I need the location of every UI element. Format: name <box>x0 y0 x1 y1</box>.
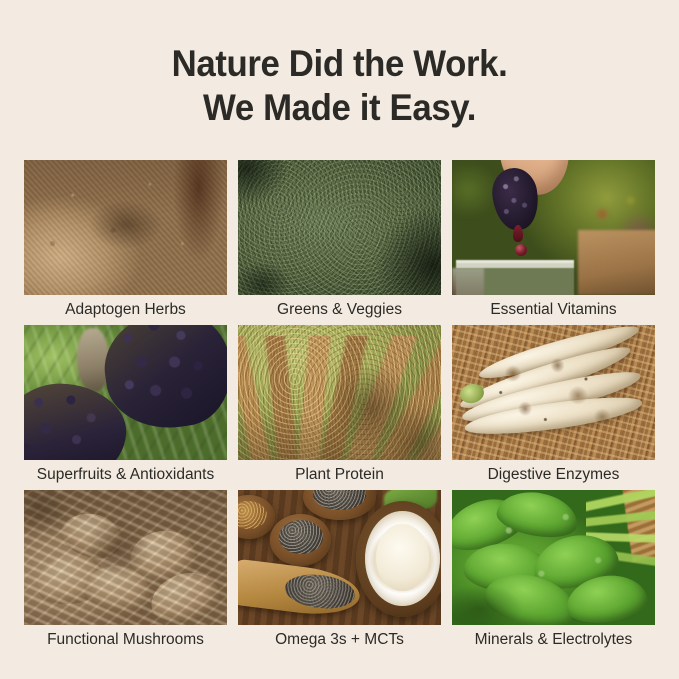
functional-mushrooms-photo <box>24 490 227 625</box>
grid-item: Plant Protein <box>238 325 441 490</box>
photo-layer-highlights <box>452 490 655 625</box>
grid-item: Essential Vitamins <box>452 160 655 325</box>
page-title-line-2: We Made it Easy. <box>20 86 658 130</box>
grid-item-caption: Functional Mushrooms <box>24 625 227 655</box>
page-title: Nature Did the Work. We Made it Easy. <box>20 0 658 130</box>
superfruits-antioxidants-photo <box>24 325 227 460</box>
photo-layer-shadow <box>24 160 227 295</box>
adaptogen-herbs-photo <box>24 160 227 295</box>
greens-veggies-photo <box>238 160 441 295</box>
photo-layer-shadow <box>238 325 441 460</box>
photo-element-crate <box>578 230 655 295</box>
grid-item-caption: Plant Protein <box>238 460 441 490</box>
photo-element-glass <box>456 260 574 295</box>
grid-item-caption: Adaptogen Herbs <box>24 295 227 325</box>
grid-item-caption: Digestive Enzymes <box>452 460 655 490</box>
product-ingredients-infographic: Nature Did the Work. We Made it Easy. Ad… <box>0 0 679 679</box>
plant-protein-photo <box>238 325 441 460</box>
digestive-enzymes-photo <box>452 325 655 460</box>
photo-element-juice-droplet <box>515 244 527 256</box>
grid-item-caption: Greens & Veggies <box>238 295 441 325</box>
photo-layer-shadow <box>238 160 441 295</box>
photo-element-chia-bowl <box>270 514 331 565</box>
grid-item: Greens & Veggies <box>238 160 441 325</box>
grid-item: Minerals & Electrolytes <box>452 490 655 655</box>
page-title-line-1: Nature Did the Work. <box>20 42 658 86</box>
grid-item: Functional Mushrooms <box>24 490 227 655</box>
grid-item-caption: Essential Vitamins <box>452 295 655 325</box>
photo-element-coconut-milk <box>376 524 428 591</box>
grid-item-caption: Superfruits & Antioxidants <box>24 460 227 490</box>
grid-item: Adaptogen Herbs <box>24 160 227 325</box>
photo-element-juice-drip <box>513 225 523 243</box>
photo-element-coconut-half <box>356 501 441 617</box>
grid-item: Superfruits & Antioxidants <box>24 325 227 490</box>
grid-item-caption: Omega 3s + MCTs <box>238 625 441 655</box>
photo-layer-root-markings <box>452 325 655 460</box>
minerals-electrolytes-photo <box>452 490 655 625</box>
ingredient-grid: Adaptogen Herbs Greens & Veggies <box>24 160 655 655</box>
omega-3s-mcts-photo <box>238 490 441 625</box>
essential-vitamins-photo <box>452 160 655 295</box>
grid-item: Digestive Enzymes <box>452 325 655 490</box>
grid-item-caption: Minerals & Electrolytes <box>452 625 655 655</box>
photo-layer-shadow <box>24 490 227 625</box>
grid-item: Omega 3s + MCTs <box>238 490 441 655</box>
